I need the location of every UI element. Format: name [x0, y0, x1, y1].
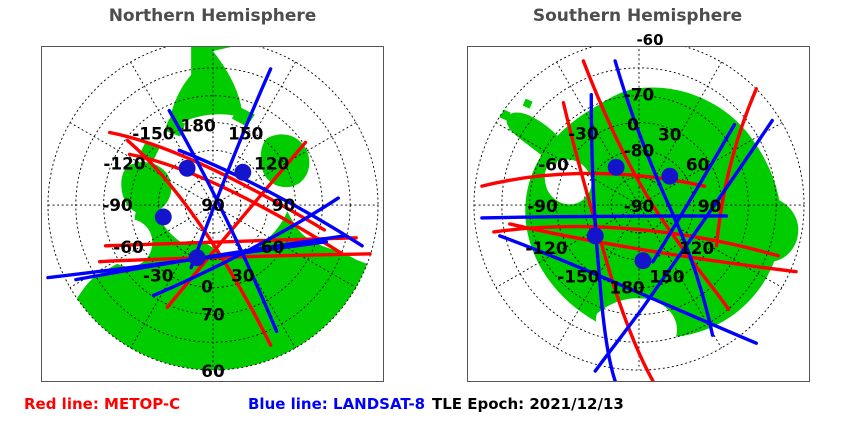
svg-text:-80: -80	[624, 140, 655, 160]
svg-text:-120: -120	[103, 153, 145, 173]
svg-text:-150: -150	[132, 123, 174, 143]
svg-text:70: 70	[201, 304, 224, 324]
plot-frame-south: 0 30 60 90 120 150 180 -150 -120 -90 -60…	[467, 46, 810, 382]
legend-red-line-metop-c: Red line: METOP-C	[24, 395, 180, 413]
page-title-north: Northern Hemisphere	[0, 6, 425, 26]
latitude-label-minus60-south: -60	[620, 31, 680, 49]
svg-text:-30: -30	[568, 123, 599, 143]
svg-text:30: 30	[231, 266, 254, 286]
legend-tle-epoch: TLE Epoch: 2021/12/13	[432, 395, 624, 413]
svg-text:-150: -150	[557, 267, 599, 287]
svg-text:60: 60	[686, 154, 709, 174]
legend: Red line: METOP-C Blue line: LANDSAT-8 T…	[0, 395, 850, 419]
svg-text:0: 0	[627, 115, 639, 135]
svg-text:180: 180	[609, 278, 644, 298]
svg-text:150: 150	[649, 267, 684, 287]
south-polar-plot: 0 30 60 90 120 150 180 -150 -120 -90 -60…	[468, 47, 809, 381]
svg-text:120: 120	[679, 238, 714, 258]
svg-text:60: 60	[201, 361, 224, 381]
svg-text:60: 60	[261, 237, 284, 257]
svg-text:-120: -120	[525, 238, 567, 258]
svg-text:-90: -90	[102, 195, 133, 215]
svg-text:0: 0	[201, 277, 213, 297]
svg-text:-30: -30	[143, 266, 174, 286]
svg-text:-90: -90	[527, 196, 558, 216]
legend-blue-line-landsat-8: Blue line: LANDSAT-8	[248, 395, 425, 413]
svg-text:-70: -70	[624, 85, 655, 105]
page-title-south: Southern Hemisphere	[425, 6, 850, 26]
svg-text:150: 150	[228, 123, 263, 143]
svg-text:-60: -60	[538, 154, 569, 174]
svg-text:90: 90	[272, 195, 295, 215]
svg-text:90: 90	[698, 196, 721, 216]
panel-southern-hemisphere: Southern Hemisphere	[425, 0, 850, 425]
plot-frame-north: 180 150 120 90 60 30 0 -30 -60 -90 -120 …	[41, 46, 384, 382]
north-polar-plot: 180 150 120 90 60 30 0 -30 -60 -90 -120 …	[42, 47, 383, 381]
svg-text:180: 180	[180, 115, 215, 135]
latitude-labels-south: -90 -80 -70	[624, 85, 655, 216]
svg-text:30: 30	[658, 124, 681, 144]
svg-text:90: 90	[201, 195, 224, 215]
svg-text:120: 120	[254, 153, 289, 173]
svg-text:-90: -90	[624, 196, 655, 216]
svg-text:-60: -60	[113, 237, 144, 257]
panel-northern-hemisphere: Northern Hemisphere	[0, 0, 425, 425]
